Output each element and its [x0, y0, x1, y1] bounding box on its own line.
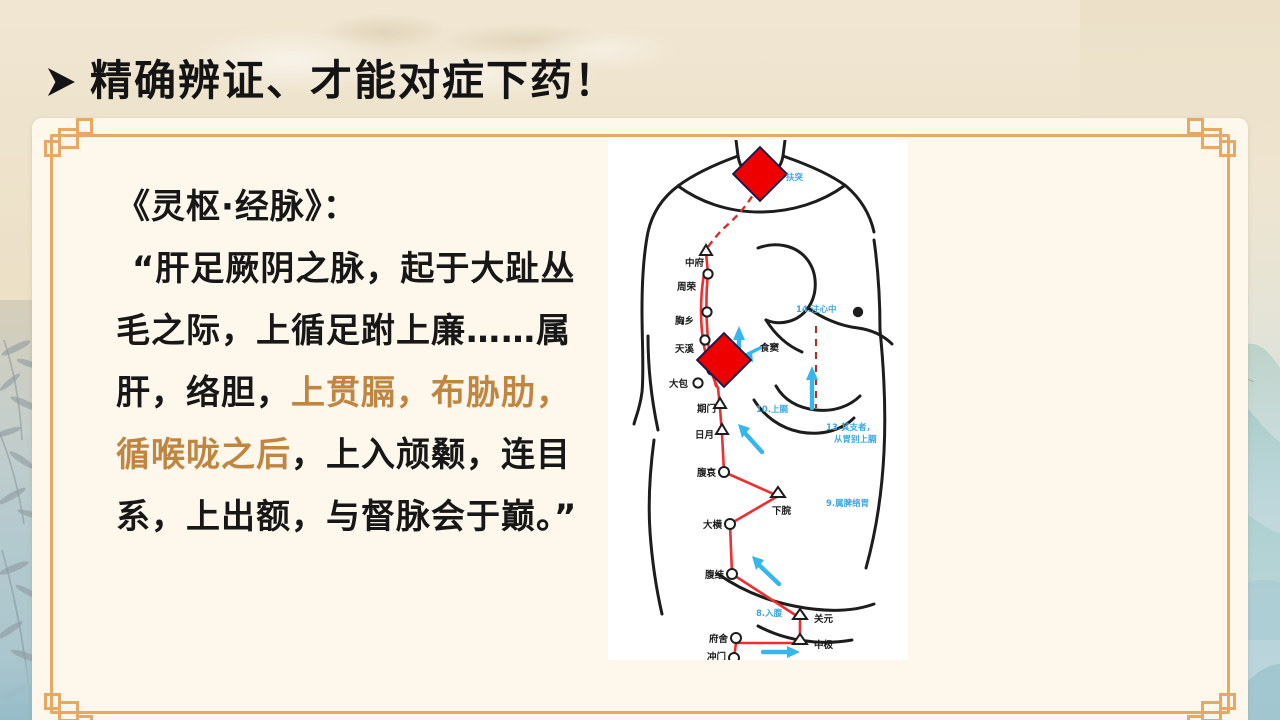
- frame-corner-top-left: [44, 128, 108, 176]
- acupoint-label: 期门: [697, 403, 716, 415]
- quote-line-2-segment-1: 毛之际，上循足跗上廉……属: [116, 311, 571, 351]
- annotation-label: 扶突: [786, 172, 804, 183]
- quote-line-4-segment-2: ，上入颃颡，连目: [291, 435, 571, 475]
- annotation-label: 13.其支者，: [826, 422, 875, 433]
- quote-line-4: 循喉咙之后，上入颃颡，连目: [116, 424, 628, 486]
- acupoint-label: 食窦: [759, 342, 780, 354]
- meridian-figure-svg: 中府 周荣 胸乡 天溪 大包 期门 日月 腹哀 大横 腹结 府舍 冲门 食窦 下…: [608, 140, 908, 660]
- slide-header: 精确辨证、才能对症下药！: [0, 50, 1280, 112]
- annotation-label: 9.属脾络胃: [826, 498, 869, 509]
- quote-line-3: 肝，络胆，上贯膈，布胁肋，: [116, 362, 628, 424]
- quote-line-3-highlight: 上贯膈，布胁肋，: [291, 373, 571, 413]
- annotation-label: 10.上膈: [756, 404, 789, 415]
- quote-line-1: “肝足厥阴之脉，起于大趾丛: [116, 238, 628, 300]
- acupoint-label: 中府: [685, 257, 705, 269]
- page-title: 精确辨证、才能对症下药！: [90, 60, 618, 102]
- acupoint-label: 胸乡: [675, 315, 694, 327]
- annotation-label: 从胃别上膈: [834, 434, 877, 445]
- acupoint-label: 大包: [669, 378, 689, 390]
- quote-line-4-highlight: 循喉咙之后: [116, 435, 291, 475]
- annotation-label: 14.注心中: [796, 304, 837, 315]
- acupoint-label: 日月: [695, 430, 714, 441]
- acupoint-label: 冲门: [707, 651, 726, 660]
- acupoint-label: 府舍: [709, 633, 729, 645]
- acupoint-label: 周荣: [677, 281, 697, 293]
- acupoint-label: 天溪: [675, 343, 695, 355]
- arrow-bullet-icon: [44, 65, 78, 99]
- content-card: 《灵枢·经脉》： “肝足厥阴之脉，起于大趾丛 毛之际，上循足跗上廉……属 肝，络…: [32, 118, 1248, 720]
- frame-corner-top-right: [1172, 128, 1236, 176]
- frame-corner-bottom-left: [44, 674, 108, 720]
- acupoint-label: 下脘: [772, 505, 792, 517]
- quote-line-2: 毛之际，上循足跗上廉……属: [116, 300, 628, 362]
- meridian-figure: 中府 周荣 胸乡 天溪 大包 期门 日月 腹哀 大横 腹结 府舍 冲门 食窦 下…: [608, 140, 908, 660]
- quote-block: 《灵枢·经脉》： “肝足厥阴之脉，起于大趾丛 毛之际，上循足跗上廉……属 肝，络…: [116, 176, 628, 548]
- acupoint-label: 大横: [703, 519, 723, 531]
- acupoint-label: 腹结: [704, 569, 725, 581]
- annotation-label: 8.入腹: [756, 608, 783, 619]
- quote-line-5-segment-1: 系，上出额，与督脉会于巅。”: [116, 497, 577, 537]
- quote-source: 《灵枢·经脉》：: [116, 176, 628, 238]
- quote-line-3-segment-1: 肝，络胆，: [116, 373, 291, 413]
- acupoint-label: 腹哀: [696, 467, 717, 479]
- quote-line-1-segment-1: “肝足厥阴之脉，起于大趾丛: [132, 249, 575, 289]
- acupoint-label: 中极: [814, 639, 834, 651]
- quote-line-5: 系，上出额，与督脉会于巅。”: [116, 486, 628, 548]
- acupoint-label: 关元: [814, 613, 834, 625]
- frame-corner-bottom-right: [1172, 674, 1236, 720]
